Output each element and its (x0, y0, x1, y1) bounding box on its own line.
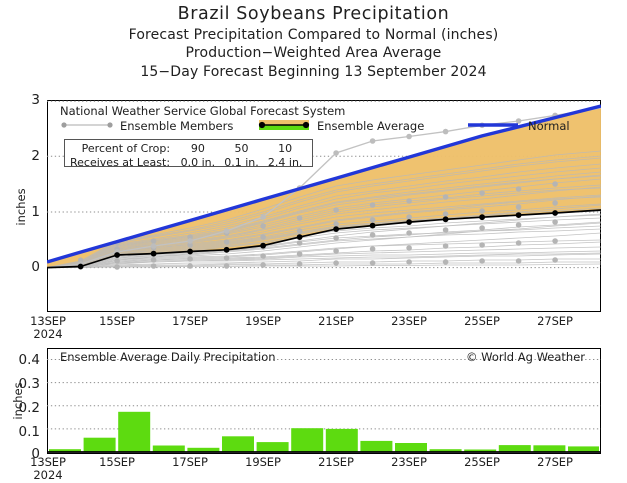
normal-legend-icon (466, 119, 520, 131)
legend-source-label: National Weather Service Global Forecast… (60, 104, 345, 118)
bar (499, 445, 531, 452)
top-xtick-25sep: 25SEP (447, 314, 517, 328)
percent-of-crop-infobox: Percent of Crop: 90 50 10 Receives at Le… (64, 139, 313, 167)
chart-title-block: Brazil Soybeans Precipitation Forecast P… (0, 4, 627, 81)
daily-panel-note: Ensemble Average Daily Precipitation (60, 350, 276, 364)
top-ytick-2: 2 (16, 148, 40, 164)
bottom-xtick-27sep: 27SEP (520, 455, 590, 469)
subtitle-line-2: Production−Weighted Area Average (0, 44, 627, 62)
bottom-xtick-25sep: 25SEP (447, 455, 517, 469)
bottom-xtick-19sep: 19SEP (228, 455, 298, 469)
infobox-percent-90: 90 (176, 142, 220, 156)
bar (222, 436, 254, 452)
bottom-xtick-15sep: 15SEP (82, 455, 152, 469)
bar (257, 442, 289, 452)
bottom-ytick-04: 0.4 (2, 352, 40, 368)
top-xtick-27sep: 27SEP (520, 314, 590, 328)
top-xtick-15sep: 15SEP (82, 314, 152, 328)
ensemble-average-legend-icon (257, 118, 311, 132)
legend-ensemble-average-label: Ensemble Average (317, 119, 424, 133)
bottom-xtick-17sep: 17SEP (155, 455, 225, 469)
infobox-percent-50: 50 (220, 142, 264, 156)
daily-precipitation-bars (49, 412, 599, 452)
bar (118, 412, 150, 452)
bottom-ytick-01: 0.1 (2, 424, 40, 440)
infobox-amount-90: 0.0 in. (176, 156, 220, 170)
bar (533, 445, 565, 452)
bar (395, 443, 427, 452)
top-xtick-13sep: 13SEP (13, 314, 83, 328)
page-title: Brazil Soybeans Precipitation (0, 4, 627, 26)
top-xtick-23sep: 23SEP (374, 314, 444, 328)
bottom-xtick-21sep: 21SEP (301, 455, 371, 469)
infobox-amount-10: 2.4 in. (263, 156, 307, 170)
bar (360, 441, 392, 452)
infobox-percent-10: 10 (263, 142, 307, 156)
bottom-ytick-03: 0.3 (2, 376, 40, 392)
infobox-row-percent: Percent of Crop: 90 50 10 (70, 142, 307, 156)
bar (326, 429, 358, 452)
infobox-row-amount: Receives at Least: 0.0 in. 0.1 in. 2.4 i… (70, 156, 307, 170)
ensemble-members-legend-icon (60, 119, 114, 131)
infobox-amount-50: 0.1 in. (220, 156, 264, 170)
subtitle-line-1: Forecast Precipitation Compared to Norma… (0, 26, 627, 44)
top-ytick-1: 1 (16, 204, 40, 220)
bottom-xtick-23sep: 23SEP (374, 455, 444, 469)
top-xtick-17sep: 17SEP (155, 314, 225, 328)
copyright-label: © World Ag Weather (466, 350, 585, 364)
bottom-xtick-13sep: 13SEP (13, 455, 83, 469)
top-xtick-year: 2024 (13, 327, 83, 341)
infobox-percent-label: Percent of Crop: (70, 142, 176, 156)
bar (84, 438, 116, 452)
top-ytick-0: 0 (16, 259, 40, 275)
top-ytick-3: 3 (16, 92, 40, 108)
bottom-xtick-year: 2024 (13, 468, 83, 482)
top-xtick-21sep: 21SEP (301, 314, 371, 328)
top-xtick-19sep: 19SEP (228, 314, 298, 328)
legend-normal-label: Normal (528, 119, 570, 133)
subtitle-line-3: 15−Day Forecast Beginning 13 September 2… (0, 63, 627, 81)
bar (153, 446, 185, 453)
bar (291, 428, 323, 452)
legend-ensemble-members-label: Ensemble Members (120, 119, 233, 133)
bottom-ytick-02: 0.2 (2, 400, 40, 416)
infobox-amount-label: Receives at Least: (70, 156, 176, 170)
